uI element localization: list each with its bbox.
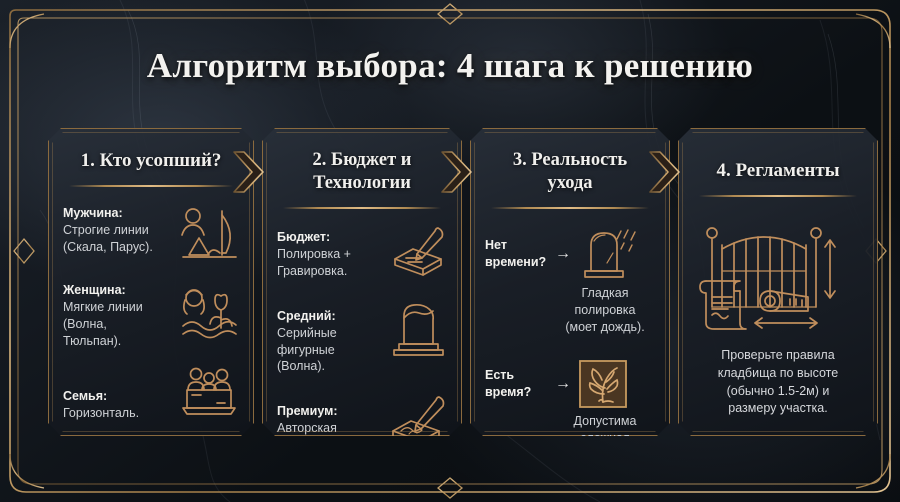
step-3-choice-have-time: Есть время? →	[485, 358, 655, 410]
rain-washed-headstone-icon	[577, 225, 639, 283]
choice-question: Есть время?	[485, 367, 551, 401]
step-4-title: 4. Регламенты	[693, 155, 863, 182]
step-2-row-medium: Средний: Серийные фигурные (Волна).	[277, 300, 447, 376]
wave-shaped-headstone-icon	[389, 300, 447, 358]
title-divider	[491, 207, 649, 209]
row-label: Бюджет:	[277, 229, 383, 246]
cemetery-gate-scroll-tape-icon	[693, 219, 863, 331]
row-body: Полировка + Гравировка.	[277, 246, 383, 280]
step-2-title: 2. Бюджет и Технологии	[277, 145, 447, 194]
choice-caption: Гладкая полировка (моет дождь).	[555, 285, 655, 336]
arrow-right-icon: →	[555, 376, 571, 392]
choice-question: Нет времени?	[485, 237, 551, 271]
ornate-carved-panel-icon	[577, 358, 629, 410]
man-sail-icon	[179, 205, 239, 263]
engraving-tool-slab-icon	[389, 225, 447, 279]
step-3-title: 3. Реальность ухода	[485, 145, 655, 194]
row-label: Женщина:	[63, 282, 173, 299]
chevron-2-to-3	[440, 150, 474, 194]
step-panel-3[interactable]: 3. Реальность ухода Нет времени? →	[470, 128, 670, 436]
step-1-row-family: Семья: Горизонталь.	[63, 366, 239, 422]
row-label: Премиум:	[277, 403, 383, 420]
row-body: Мягкие линии (Волна, Тюльпан).	[63, 299, 173, 350]
title-divider	[699, 195, 857, 197]
title-divider	[69, 185, 233, 187]
row-label: Семья:	[63, 388, 173, 405]
step-4-caption: Проверьте правила кладбища по высоте (об…	[693, 347, 863, 418]
row-body: Серийные фигурные (Волна).	[277, 325, 383, 376]
step-panel-4[interactable]: 4. Регламенты	[678, 128, 878, 436]
page-title: Алгоритм выбора: 4 шага к решению	[0, 46, 900, 86]
row-label: Средний:	[277, 308, 383, 325]
title-divider	[283, 207, 441, 209]
row-body: Строгие линии (Скала, Парус).	[63, 222, 173, 256]
row-body: Горизонталь.	[63, 405, 173, 422]
step-1-title: 1. Кто усопший?	[63, 145, 239, 172]
step-panel-2[interactable]: 2. Бюджет и Технологии Бюджет: Полировка…	[262, 128, 462, 436]
woman-tulip-wave-icon	[179, 284, 239, 342]
step-2-row-budget: Бюджет: Полировка + Гравировка.	[277, 225, 447, 280]
step-1-row-man: Мужчина: Строгие линии (Скала, Парус).	[63, 205, 239, 263]
step-1-row-woman: Женщина: Мягкие линии (Волна, Тюльпан).	[63, 282, 239, 350]
chevron-1-to-2	[232, 150, 266, 194]
row-label: Мужчина:	[63, 205, 173, 222]
step-panel-1[interactable]: 1. Кто усопший? Мужчина: Строгие линии (…	[48, 128, 254, 436]
chevron-3-to-4	[648, 150, 682, 194]
family-horizontal-monument-icon	[179, 366, 239, 418]
arrow-right-icon: →	[555, 246, 571, 262]
step-3-choice-no-time: Нет времени? →	[485, 225, 655, 283]
slide-canvas: Алгоритм выбора: 4 шага к решению 1. Кто…	[0, 0, 900, 502]
